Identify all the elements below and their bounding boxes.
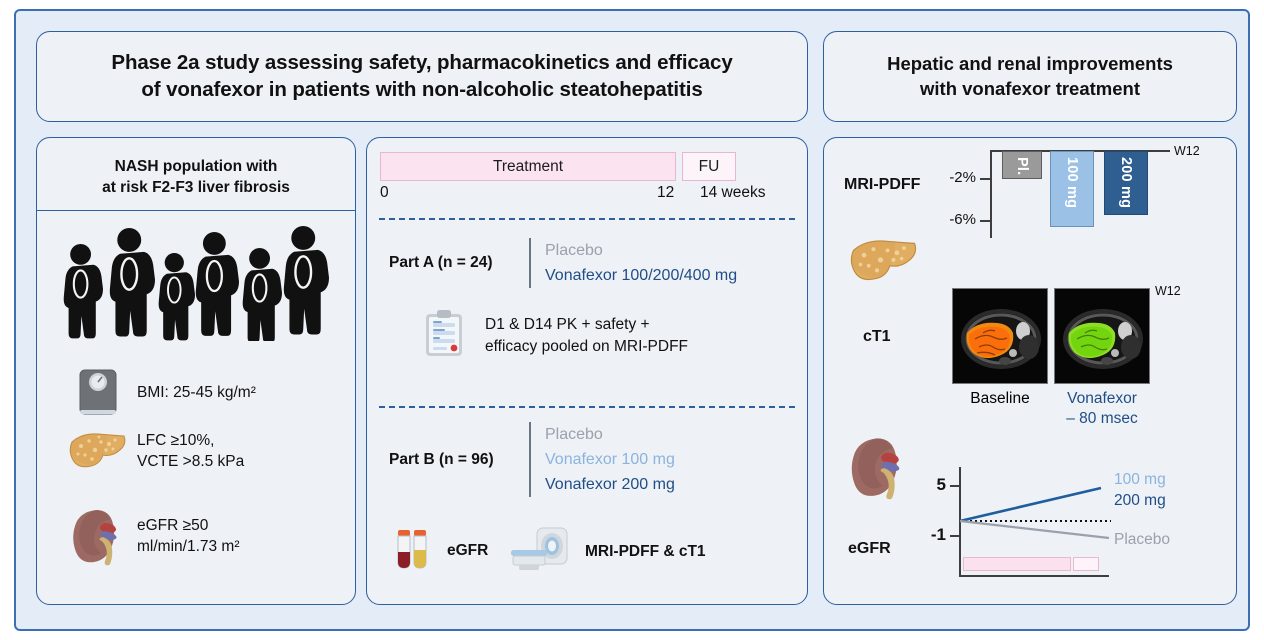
ct1-timepoint-label: W12 [1155,284,1181,298]
ct1-baseline-caption: Baseline [952,389,1048,409]
result-label-pdff: MRI-PDFF [844,176,920,194]
criterion-bmi: BMI: 25-45 kg/m² [59,366,349,418]
pdff-bar-placebo-label: Pl. [1014,152,1030,175]
part-b-egfr-label: eGFR [447,540,488,562]
criterion-lfc: LFC ≥10%, VCTE >8.5 kPa [59,428,349,474]
part-a-arm-vonafexor: Vonafexor 100/200/400 mg [545,263,737,288]
part-b-arm-placebo: Placebo [545,422,675,447]
timeline-treatment-label: Treatment [493,158,563,176]
part-b-arm-100mg: Vonafexor 100 mg [545,447,675,472]
egfr-timeline-treatment-segment [963,557,1071,571]
part-b-assessment-egfr: eGFR [393,524,488,577]
criterion-egfr: eGFR ≥50 ml/min/1.73 m² [59,506,349,566]
pdff-ticklabel-minus2: -2% [949,169,976,186]
study-timeline: Treatment FU 0 12 14 weeks [380,152,792,208]
part-b-arm-200mg: Vonafexor 200 mg [545,472,675,497]
design-divider-bottom [379,406,795,408]
main-title-card: Phase 2a study assessing safety, pharmac… [36,31,808,122]
part-a-arms: Placebo Vonafexor 100/200/400 mg [529,238,737,288]
main-title-line2: of vonafexor in patients with non-alcoho… [37,76,807,103]
population-heading-line1: NASH population with [37,156,355,177]
pdff-timepoint-label: W12 [1174,144,1200,158]
part-a-row: Part A (n = 24) Placebo Vonafexor 100/20… [389,238,737,288]
timeline-treatment-bar: Treatment [380,152,676,181]
timeline-tick-end: 14 weeks [700,184,765,202]
part-b-label: Part B (n = 96) [389,451,529,469]
design-divider-top [379,218,795,220]
population-heading-line2: at risk F2-F3 liver fibrosis [37,177,355,198]
ct1-image-panel: Baseline [952,288,1150,429]
timeline-tick-start: 0 [380,184,389,202]
egfr-legend-200mg: 200 mg [1114,490,1166,511]
population-card: NASH population with at risk F2-F3 liver… [36,137,356,605]
clipboard-icon [423,308,485,363]
part-b-row: Part B (n = 96) Placebo Vonafexor 100 mg… [389,422,675,497]
main-title-line1: Phase 2a study assessing safety, pharmac… [37,49,807,76]
results-title-card: Hepatic and renal improvements with vona… [823,31,1237,122]
part-a-arm-placebo: Placebo [545,238,737,263]
results-kidney-icon [848,434,910,505]
timeline-tick-mid: 12 [657,184,674,202]
part-a-assessment-line1: D1 & D14 PK + safety + [485,314,688,336]
egfr-treatment-timeline-bar [963,557,1099,571]
obese-people-silhouettes-icon [61,226,333,341]
egfr-ticklabel-5: 5 [937,475,946,495]
pdff-bar-chart: -2% -6% Pl. 100 mg 200 mg W12 [942,148,1192,243]
part-a-assessment-line2: efficacy pooled on MRI-PDFF [485,336,688,358]
criterion-bmi-line1: BMI: 25-45 kg/m² [137,382,256,403]
pdff-bar-200mg: 200 mg [1104,151,1148,215]
egfr-timeline-followup-segment [1073,557,1099,571]
ct1-treated-caption-line2: – 80 msec [1054,409,1150,429]
timeline-followup-label: FU [699,158,720,176]
egfr-line-chart: 5 -1 100 mg 200 mg Placebo [929,463,1219,585]
part-b-assessment-imaging: MRI-PDFF & cT1 [507,524,706,579]
axial-mri-liver-green-icon [1054,288,1150,384]
mri-scanner-icon [507,524,585,579]
kidney-icon [59,506,137,566]
results-title-line1: Hepatic and renal improvements [824,51,1236,76]
fatty-liver-icon [59,428,137,474]
egfr-ticklabel-minus1: -1 [931,525,946,545]
criterion-lfc-line2: VCTE >8.5 kPa [137,451,244,472]
population-divider [37,210,355,211]
criterion-lfc-line1: LFC ≥10%, [137,430,244,451]
egfr-legend-100mg: 100 mg [1114,469,1166,490]
pdff-bar-100mg: 100 mg [1050,151,1094,227]
ct1-treated-caption-line1: Vonafexor [1054,389,1150,409]
blood-tubes-icon [393,524,447,577]
results-fatty-liver-icon [848,234,920,293]
part-b-imaging-label: MRI-PDFF & cT1 [585,541,706,563]
pdff-tick-minus6: -6% [980,220,992,222]
axial-mri-liver-orange-icon [952,288,1048,384]
pdff-bar-200mg-label: 200 mg [1118,152,1134,208]
part-a-assessment: D1 & D14 PK + safety + efficacy pooled o… [423,308,688,363]
pdff-ticklabel-minus6: -6% [949,211,976,228]
timeline-followup-bar: FU [682,152,736,181]
results-card: MRI-PDFF -2% -6% Pl. 100 mg 200 mg W12 [823,137,1237,605]
weight-scale-icon [59,366,137,418]
criterion-egfr-line1: eGFR ≥50 [137,515,240,536]
pdff-bar-100mg-label: 100 mg [1064,152,1080,208]
result-label-egfr: eGFR [848,540,891,558]
part-b-arms: Placebo Vonafexor 100 mg Vonafexor 200 m… [529,422,675,497]
egfr-legend-placebo: Placebo [1114,529,1170,550]
timeline-axis: 0 12 14 weeks [380,184,792,208]
result-label-ct1: cT1 [863,328,891,346]
pdff-bar-placebo: Pl. [1002,151,1042,179]
study-design-card: Treatment FU 0 12 14 weeks Part A (n = 2… [366,137,808,605]
part-a-label: Part A (n = 24) [389,254,529,272]
graphical-abstract: Phase 2a study assessing safety, pharmac… [0,0,1264,640]
criterion-egfr-line2: ml/min/1.73 m² [137,536,240,557]
results-title-line2: with vonafexor treatment [824,76,1236,101]
pdff-tick-minus2: -2% [980,178,992,180]
